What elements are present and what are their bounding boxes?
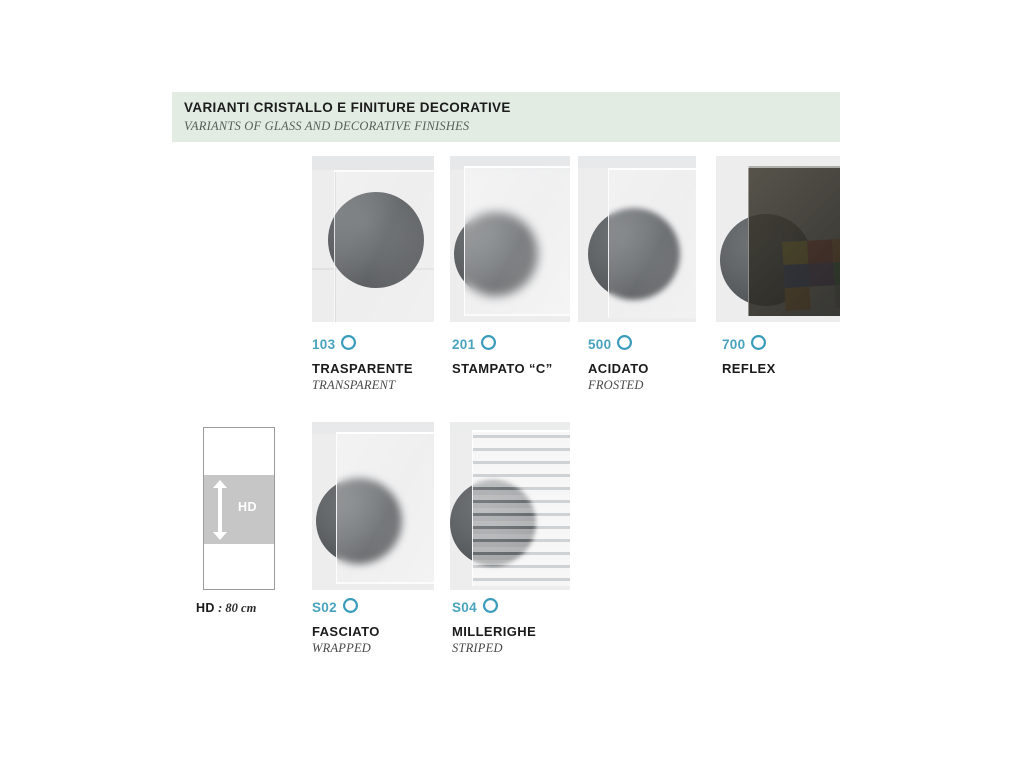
catalog-page: VARIANTI CRISTALLO E FINITURE DECORATIVE… — [0, 0, 1024, 768]
finish-image-stampato-c — [450, 156, 570, 322]
hd-arrow-icon — [213, 480, 227, 540]
finish-label-reflex: 700 REFLEX — [722, 336, 776, 377]
finish-name-it: STAMPATO “C” — [452, 361, 553, 377]
finish-code: 103 — [312, 336, 335, 354]
finish-image-acidato — [578, 156, 696, 322]
finish-code: 500 — [588, 336, 611, 354]
finish-code: S04 — [452, 599, 477, 617]
finish-code-row: S02 — [312, 599, 380, 617]
finish-name-it: ACIDATO — [588, 361, 649, 377]
finish-label-acidato: 500 ACIDATO FROSTED — [588, 336, 649, 393]
page-title: VARIANTI CRISTALLO E FINITURE DECORATIVE — [184, 99, 840, 116]
hd-caption: HD : 80 cm — [196, 600, 316, 616]
glass-finish-icon — [483, 598, 498, 618]
finish-code-row: 700 — [722, 336, 776, 354]
finish-code: S02 — [312, 599, 337, 617]
glass-finish-icon — [341, 335, 356, 355]
glass-finish-icon — [481, 335, 496, 355]
finish-name-it: REFLEX — [722, 361, 776, 377]
finish-image-millerighe — [450, 422, 570, 590]
page-subtitle: VARIANTS OF GLASS AND DECORATIVE FINISHE… — [184, 118, 840, 134]
finish-name-en: FROSTED — [588, 378, 649, 393]
finish-label-fasciato: S02 FASCIATO WRAPPED — [312, 599, 380, 656]
finish-code-row: S04 — [452, 599, 536, 617]
hd-inner-label: HD — [238, 500, 257, 514]
finish-name-en: STRIPED — [452, 641, 536, 656]
section-header-band: VARIANTI CRISTALLO E FINITURE DECORATIVE… — [172, 92, 840, 142]
finish-name-en: WRAPPED — [312, 641, 380, 656]
finish-image-fasciato — [312, 422, 434, 590]
hd-caption-key: HD — [196, 601, 215, 615]
finish-code-row: 500 — [588, 336, 649, 354]
finish-image-reflex — [716, 156, 840, 322]
finish-image-trasparente — [312, 156, 434, 322]
finish-label-trasparente: 103 TRASPARENTE TRANSPARENT — [312, 336, 413, 393]
glass-finish-icon — [343, 598, 358, 618]
finish-code: 700 — [722, 336, 745, 354]
hd-dimension-diagram: HD — [203, 427, 275, 590]
finish-name-it: MILLERIGHE — [452, 624, 536, 640]
finish-code-row: 201 — [452, 336, 553, 354]
finish-name-it: TRASPARENTE — [312, 361, 413, 377]
finish-label-millerighe: S04 MILLERIGHE STRIPED — [452, 599, 536, 656]
finish-name-en: TRANSPARENT — [312, 378, 413, 393]
finish-code-row: 103 — [312, 336, 413, 354]
finish-label-stampato-c: 201 STAMPATO “C” — [452, 336, 553, 377]
hd-caption-value: : 80 cm — [218, 601, 256, 615]
glass-finish-icon — [617, 335, 632, 355]
finish-name-it: FASCIATO — [312, 624, 380, 640]
glass-finish-icon — [751, 335, 766, 355]
finish-code: 201 — [452, 336, 475, 354]
